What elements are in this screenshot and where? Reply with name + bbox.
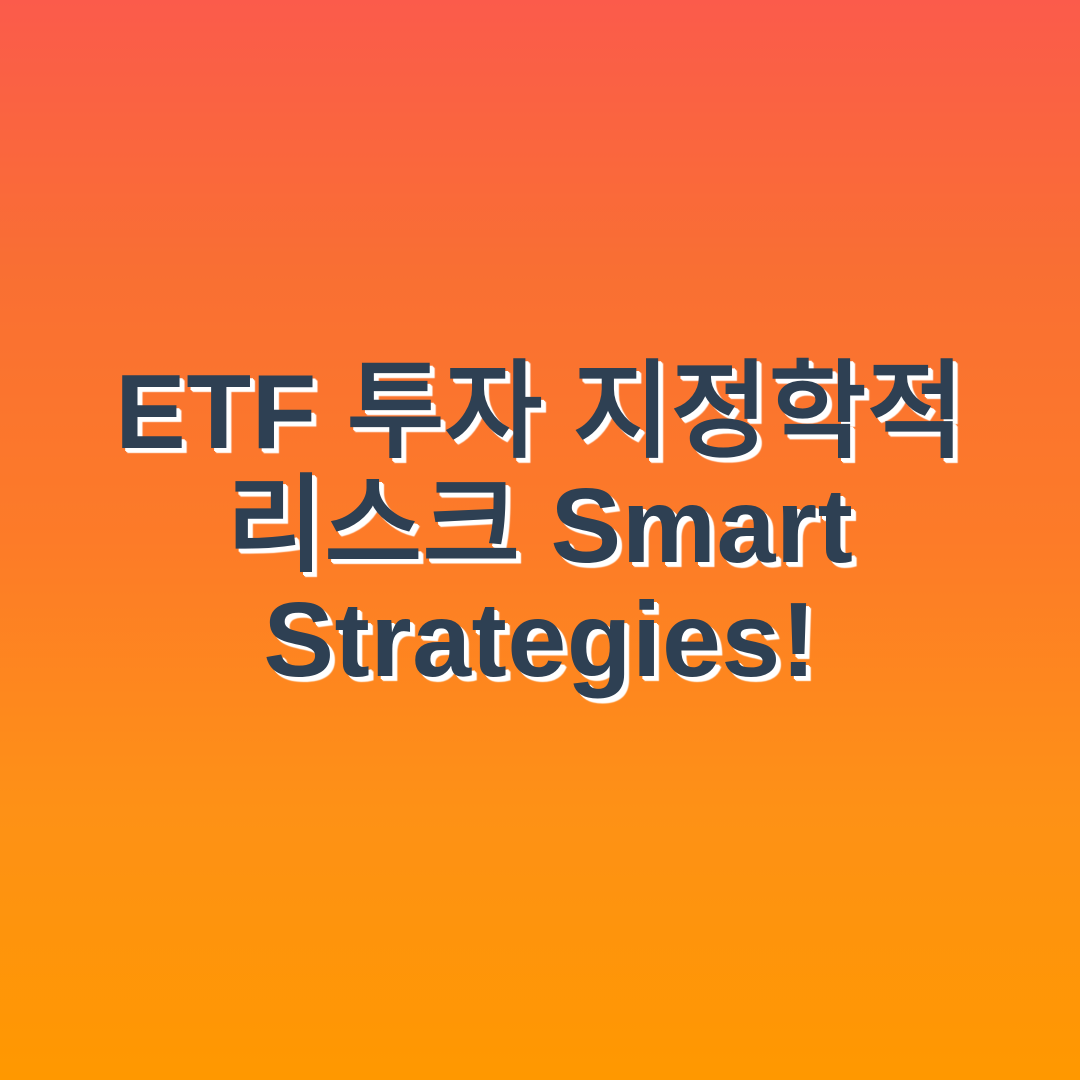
headline-line-3: Strategies!	[28, 583, 1052, 697]
poster-canvas: ETF 투자 지정학적 리스크 Smart Strategies!	[0, 0, 1080, 1080]
headline-line-1: ETF 투자 지정학적	[28, 355, 1052, 469]
headline-block: ETF 투자 지정학적 리스크 Smart Strategies!	[0, 355, 1080, 697]
headline-line-2: 리스크 Smart	[28, 469, 1052, 583]
